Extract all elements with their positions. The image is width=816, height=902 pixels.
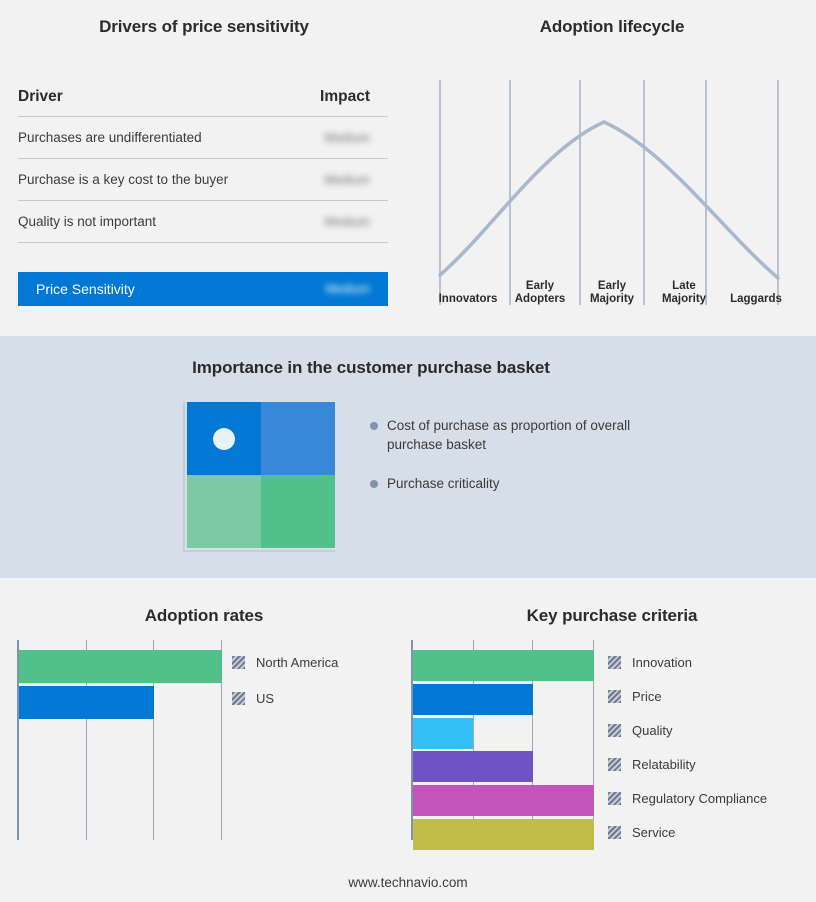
key-purchase-criteria-title: Key purchase criteria	[408, 606, 816, 626]
driver-label: Quality is not important	[18, 214, 156, 229]
purchase-basket-legend: Cost of purchase as proportion of overal…	[370, 416, 655, 513]
legend-item-service: Service	[608, 815, 767, 849]
adoption-lifecycle-panel: Adoption lifecycle Innovators Early Adop…	[408, 0, 816, 336]
driver-label: Purchases are undifferentiated	[18, 130, 202, 145]
legend-item-cost-of-purchase: Cost of purchase as proportion of overal…	[370, 416, 655, 454]
legend-label: Innovation	[632, 655, 692, 670]
drivers-title: Drivers of price sensitivity	[0, 17, 408, 37]
legend-item-relatability: Relatability	[608, 747, 767, 781]
bar-fill	[413, 751, 533, 782]
price-sensitivity-label: Price Sensitivity	[36, 281, 135, 297]
quadrant-bottom-left	[187, 475, 261, 548]
hatched-swatch-icon	[608, 792, 621, 805]
bar-fill	[413, 684, 533, 715]
legend-label: Price	[632, 689, 662, 704]
criteria-plot-area	[411, 640, 594, 840]
purchase-basket-title: Importance in the customer purchase bask…	[0, 358, 742, 378]
bar-fill	[19, 650, 222, 683]
key-purchase-criteria-panel: Key purchase criteria	[408, 578, 816, 902]
bar-regulatory-compliance	[413, 785, 594, 816]
impact-value: Medium	[324, 215, 370, 229]
drivers-table: Driver Impact Purchases are undifferenti…	[18, 88, 388, 243]
hatched-swatch-icon	[608, 826, 621, 839]
bar-us	[19, 686, 222, 719]
legend-label: Quality	[632, 723, 672, 738]
stage-line-2: Laggards	[720, 293, 792, 306]
quadrant-top-left	[187, 402, 261, 475]
bullet-dot-icon	[370, 480, 378, 488]
column-header-impact: Impact	[320, 88, 370, 106]
stage-line-2: Adopters	[504, 293, 576, 306]
stage-line-2: Majority	[576, 293, 648, 306]
position-marker-dot	[213, 428, 235, 450]
key-purchase-criteria-chart	[411, 640, 597, 840]
legend-item-us: US	[232, 682, 338, 715]
bar-fill	[413, 650, 594, 681]
bar-fill	[413, 718, 473, 749]
impact-value: Medium	[324, 173, 370, 187]
lifecycle-stage-early-majority: Early Majority	[576, 272, 648, 306]
table-row: Purchase is a key cost to the buyer Medi…	[18, 159, 388, 201]
legend-item-innovation: Innovation	[608, 645, 767, 679]
key-purchase-criteria-legend: Innovation Price Quality Relatability Re…	[608, 645, 767, 849]
legend-label: Service	[632, 825, 675, 840]
stage-line-2: Innovators	[432, 293, 504, 306]
quadrant-chart	[183, 402, 335, 552]
adoption-rates-chart	[17, 640, 227, 840]
stage-line-1: Early	[504, 280, 576, 293]
legend-label: North America	[256, 655, 338, 670]
bar-fill	[413, 819, 594, 850]
bar-service	[413, 819, 594, 850]
lifecycle-stage-early-adopters: Early Adopters	[504, 272, 576, 306]
legend-label: Purchase criticality	[387, 474, 500, 493]
footer-url: www.technavio.com	[0, 875, 816, 890]
drivers-panel: Drivers of price sensitivity Driver Impa…	[0, 0, 408, 336]
stage-line-2: Majority	[648, 293, 720, 306]
legend-item-quality: Quality	[608, 713, 767, 747]
stage-line-1: Early	[576, 280, 648, 293]
adoption-rates-title: Adoption rates	[0, 606, 408, 626]
legend-item-regulatory-compliance: Regulatory Compliance	[608, 781, 767, 815]
column-header-driver: Driver	[18, 88, 63, 106]
bar-north-america	[19, 650, 222, 683]
hatched-swatch-icon	[608, 690, 621, 703]
legend-label: Regulatory Compliance	[632, 791, 767, 806]
price-sensitivity-summary-row: Price Sensitivity Medium	[18, 272, 388, 306]
price-sensitivity-impact: Medium	[326, 282, 370, 296]
drivers-table-header: Driver Impact	[18, 88, 388, 117]
hatched-swatch-icon	[608, 724, 621, 737]
bar-quality	[413, 718, 594, 749]
bell-curve	[440, 122, 778, 278]
legend-item-price: Price	[608, 679, 767, 713]
adoption-rates-legend: North America US	[232, 646, 338, 715]
adoption-rates-plot-area	[17, 640, 222, 840]
bar-price	[413, 684, 594, 715]
bar-relatability	[413, 751, 594, 782]
hatched-swatch-icon	[608, 758, 621, 771]
driver-label: Purchase is a key cost to the buyer	[18, 172, 228, 187]
adoption-lifecycle-title: Adoption lifecycle	[408, 17, 816, 37]
hatched-swatch-icon	[232, 656, 245, 669]
bullet-dot-icon	[370, 422, 378, 430]
lifecycle-stage-late-majority: Late Majority	[648, 272, 720, 306]
hatched-swatch-icon	[232, 692, 245, 705]
bar-innovation	[413, 650, 594, 681]
bar-fill	[19, 686, 154, 719]
quadrant-grid	[187, 402, 335, 548]
table-row: Quality is not important Medium	[18, 201, 388, 243]
table-row: Purchases are undifferentiated Medium	[18, 117, 388, 159]
legend-label: Cost of purchase as proportion of overal…	[387, 416, 655, 454]
lifecycle-stage-labels: Innovators Early Adopters Early Majority…	[432, 272, 792, 306]
adoption-rates-panel: Adoption rates North America US	[0, 578, 408, 902]
hatched-swatch-icon	[608, 656, 621, 669]
quadrant-top-right	[261, 402, 335, 475]
legend-label: Relatability	[632, 757, 696, 772]
bar-fill	[413, 785, 594, 816]
impact-value: Medium	[324, 131, 370, 145]
lifecycle-stage-innovators: Innovators	[432, 272, 504, 306]
legend-label: US	[256, 691, 274, 706]
stage-line-1: Late	[648, 280, 720, 293]
legend-item-north-america: North America	[232, 646, 338, 679]
legend-item-purchase-criticality: Purchase criticality	[370, 474, 655, 493]
quadrant-bottom-right	[261, 475, 335, 548]
lifecycle-stage-laggards: Laggards	[720, 272, 792, 306]
